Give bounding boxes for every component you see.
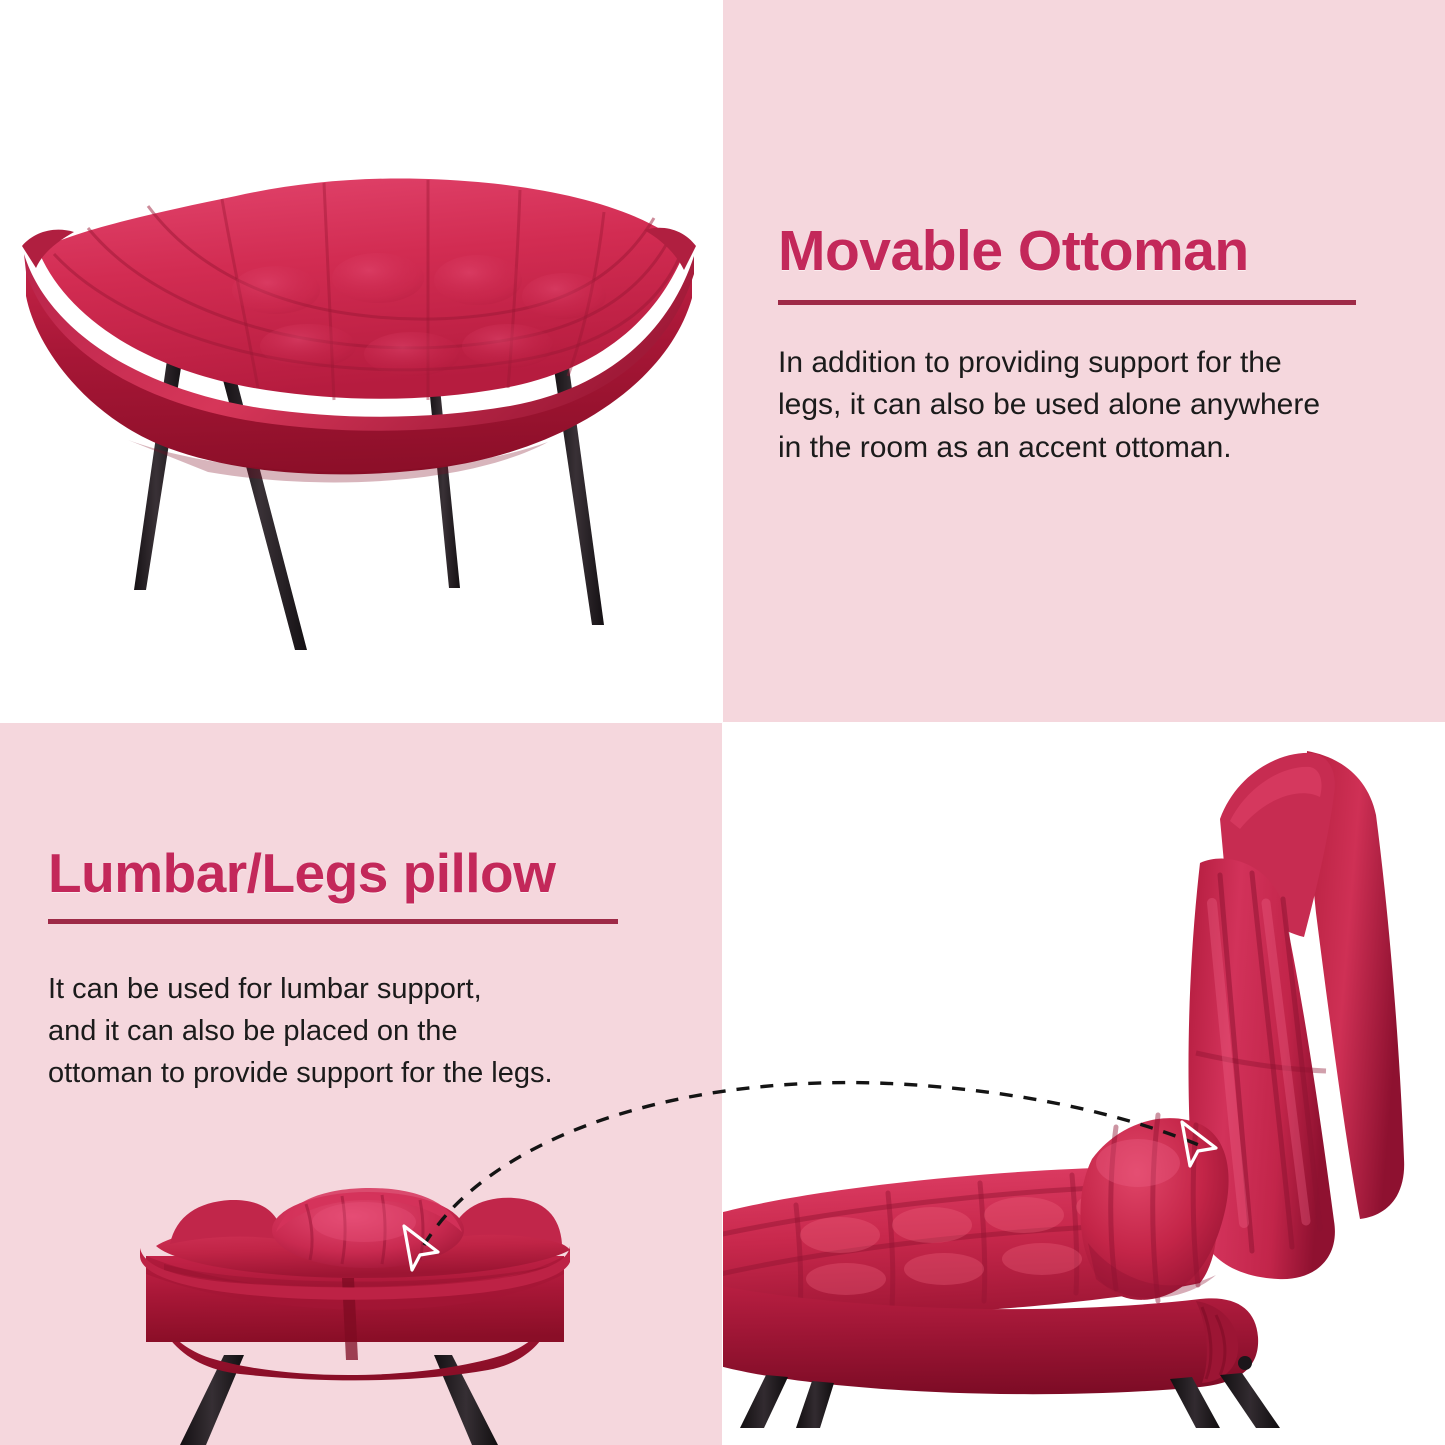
- movable-ottoman-heading: Movable Ottoman: [778, 222, 1378, 282]
- cursor-arrow-icon-ottoman: [398, 1222, 444, 1274]
- quadrant-top-left: [0, 0, 722, 722]
- lumbar-pillow-text-block: Lumbar/Legs pillow It can be used for lu…: [48, 845, 658, 1123]
- product-feature-collage: Movable Ottoman In addition to providing…: [0, 0, 1445, 1445]
- movable-ottoman-text-block: Movable Ottoman In addition to providing…: [778, 222, 1378, 500]
- body-line: ottoman to provide support for the legs.: [48, 1052, 658, 1094]
- body-line: legs, it can also be used alone anywhere: [778, 384, 1378, 427]
- lumbar-pillow-heading: Lumbar/Legs pillow: [48, 845, 658, 903]
- body-line: In addition to providing support for the: [778, 342, 1378, 385]
- ottoman-photo: [8, 150, 708, 690]
- movable-ottoman-body: In addition to providing support for the…: [778, 342, 1378, 470]
- accent-chair-photo: [723, 723, 1445, 1428]
- cursor-arrow-icon-chair: [1176, 1118, 1222, 1170]
- lumbar-pillow-body: It can be used for lumbar support, and i…: [48, 968, 658, 1094]
- body-line: in the room as an accent ottoman.: [778, 427, 1378, 470]
- body-line: It can be used for lumbar support,: [48, 968, 658, 1010]
- quadrant-bottom-right: [723, 723, 1445, 1445]
- body-line: and it can also be placed on the: [48, 1010, 658, 1052]
- ottoman-with-pillow-photo: [120, 1170, 590, 1445]
- lumbar-pillow-heading-rule: [48, 919, 618, 924]
- movable-ottoman-heading-rule: [778, 300, 1356, 305]
